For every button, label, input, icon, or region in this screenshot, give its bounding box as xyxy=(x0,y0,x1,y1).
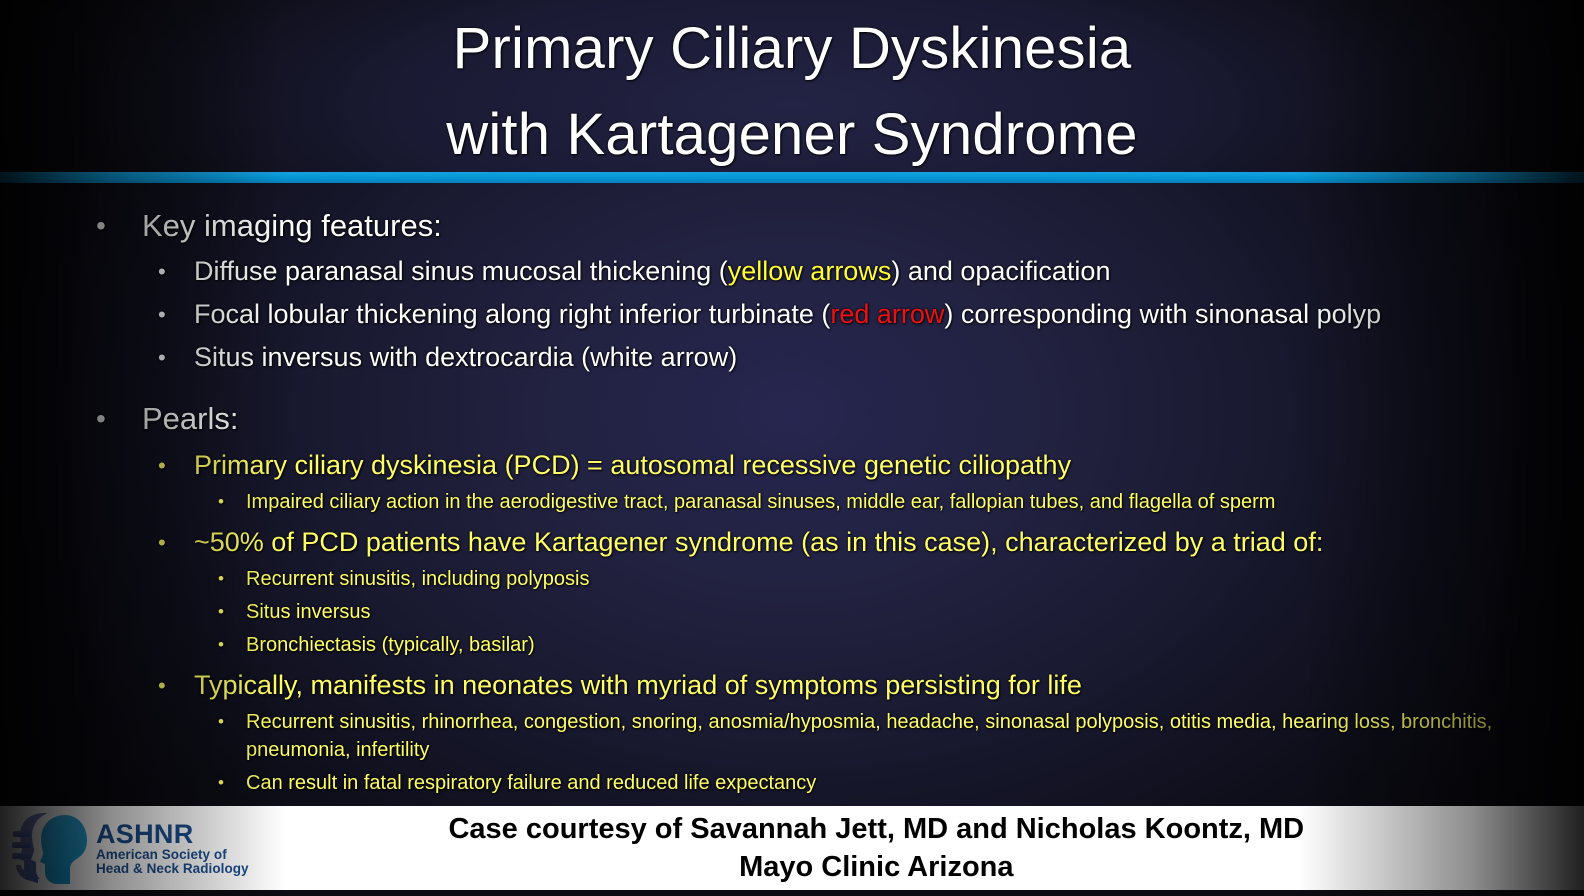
sub-list-item-text: Impaired ciliary action in the aerodiges… xyxy=(246,488,1584,516)
list-item-text: ~50% of PCD patients have Kartagener syn… xyxy=(194,525,1584,560)
logo-bar-1 xyxy=(13,831,30,837)
bullet-icon: • xyxy=(96,399,142,439)
list-item: • Typically, manifests in neonates with … xyxy=(0,668,1584,703)
bullet-icon: • xyxy=(158,254,194,289)
list-item-text: Diffuse paranasal sinus mucosal thickeni… xyxy=(194,254,1584,289)
logo-bar-2 xyxy=(12,842,31,848)
logo-bar-3 xyxy=(12,853,31,859)
list-item-text: Primary ciliary dyskinesia (PCD) = autos… xyxy=(194,448,1584,483)
case-credit: Case courtesy of Savannah Jett, MD and N… xyxy=(249,810,1584,887)
text-segment: ) and opacification xyxy=(891,256,1110,286)
slide-body: • Key imaging features: • Diffuse parana… xyxy=(0,198,1584,804)
list-item: • ~50% of PCD patients have Kartagener s… xyxy=(0,525,1584,560)
bullet-icon: • xyxy=(158,340,194,375)
case-credit-line-1: Case courtesy of Savannah Jett, MD and N… xyxy=(249,810,1504,848)
list-item: • Diffuse paranasal sinus mucosal thicke… xyxy=(0,254,1584,289)
sub-list-item: • Recurrent sinusitis, including polypos… xyxy=(0,565,1584,593)
bullet-icon: • xyxy=(218,565,246,593)
ashnr-logo-text: ASHNR American Society of Head & Neck Ra… xyxy=(96,820,249,876)
title-line-2: with Kartagener Syndrome xyxy=(0,92,1584,178)
bullet-icon: • xyxy=(218,631,246,659)
bullet-icon: • xyxy=(218,488,246,516)
list-item: • Focal lobular thickening along right i… xyxy=(0,297,1584,332)
ashnr-logo: ASHNR American Society of Head & Neck Ra… xyxy=(0,809,249,887)
slide-footer: ASHNR American Society of Head & Neck Ra… xyxy=(0,806,1584,890)
text-segment-yellow-arrows: yellow arrows xyxy=(728,256,892,286)
text-segment-red-arrow: red arrow xyxy=(830,299,944,329)
sub-list-item-text: Recurrent sinusitis, rhinorrhea, congest… xyxy=(246,708,1508,764)
sub-list-item: • Impaired ciliary action in the aerodig… xyxy=(0,488,1584,516)
text-segment: ) corresponding with sinonasal polyp xyxy=(944,299,1381,329)
ashnr-acronym: ASHNR xyxy=(96,820,249,848)
list-item-text: Focal lobular thickening along right inf… xyxy=(194,297,1584,332)
section-heading-key-imaging-features: • Key imaging features: xyxy=(0,206,1584,246)
slide-title: Primary Ciliary Dyskinesia with Kartagen… xyxy=(0,6,1584,178)
list-item-text: Typically, manifests in neonates with my… xyxy=(194,668,1584,703)
title-accent-bar xyxy=(0,172,1584,183)
sub-list-item-text: Recurrent sinusitis, including polyposis xyxy=(246,565,1584,593)
bullet-icon: • xyxy=(158,297,194,332)
ashnr-head-profiles-icon xyxy=(8,809,90,887)
section-spacer xyxy=(0,375,1584,391)
case-credit-line-2: Mayo Clinic Arizona xyxy=(249,848,1504,886)
section-heading-label: Pearls: xyxy=(142,399,1584,439)
list-item-text: Situs inversus with dextrocardia (white … xyxy=(194,340,1584,375)
text-segment: Focal lobular thickening along right inf… xyxy=(194,299,830,329)
title-line-1: Primary Ciliary Dyskinesia xyxy=(0,6,1584,92)
bullet-icon: • xyxy=(96,206,142,246)
slide: Primary Ciliary Dyskinesia with Kartagen… xyxy=(0,0,1584,896)
list-item: • Primary ciliary dyskinesia (PCD) = aut… xyxy=(0,448,1584,483)
ashnr-subtitle-line-2: Head & Neck Radiology xyxy=(96,862,249,876)
text-segment: Diffuse paranasal sinus mucosal thickeni… xyxy=(194,256,728,286)
bullet-icon: • xyxy=(158,448,194,483)
sub-list-item: • Situs inversus xyxy=(0,598,1584,626)
sub-list-item: • Recurrent sinusitis, rhinorrhea, conge… xyxy=(0,708,1584,764)
section-heading-pearls: • Pearls: xyxy=(0,399,1584,439)
list-item: • Situs inversus with dextrocardia (whit… xyxy=(0,340,1584,375)
bullet-icon: • xyxy=(218,598,246,626)
bullet-icon: • xyxy=(158,668,194,703)
bullet-icon: • xyxy=(218,708,246,736)
ashnr-subtitle-line-1: American Society of xyxy=(96,848,249,862)
sub-list-item-text: Bronchiectasis (typically, basilar) xyxy=(246,631,1584,659)
sub-list-item: • Bronchiectasis (typically, basilar) xyxy=(0,631,1584,659)
bullet-icon: • xyxy=(158,525,194,560)
footer-bottom-strip xyxy=(0,890,1584,896)
sub-list-item-text: Situs inversus xyxy=(246,598,1584,626)
section-heading-label: Key imaging features: xyxy=(142,206,1584,246)
sub-list-item: • Can result in fatal respiratory failur… xyxy=(0,769,1584,797)
sub-list-item-text: Can result in fatal respiratory failure … xyxy=(246,769,1584,797)
bullet-icon: • xyxy=(218,769,246,797)
